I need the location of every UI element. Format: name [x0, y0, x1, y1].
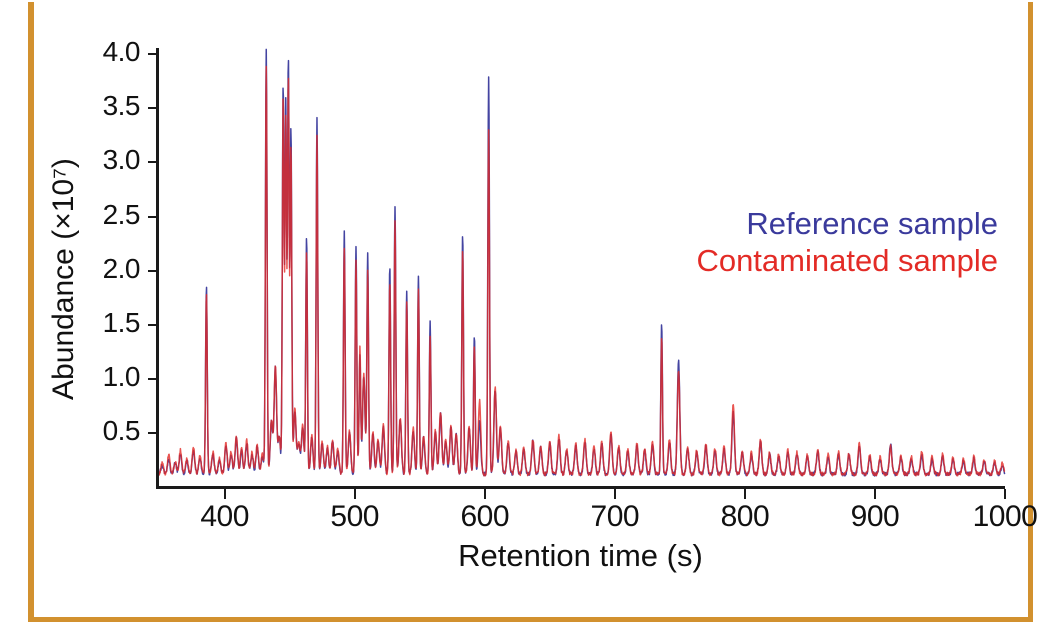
y-axis-line — [156, 48, 159, 489]
chromatogram-plot: 0.51.01.52.02.53.03.54.0 400500600700800… — [0, 0, 1046, 630]
x-tick-label-600: 600 — [430, 500, 540, 534]
y-tick-2.5 — [148, 216, 157, 218]
y-tick-0.5 — [148, 432, 157, 434]
x-tick-600 — [484, 489, 486, 499]
y-axis-title: Abundance (×10⁷) — [47, 79, 81, 479]
y-tick-2.0 — [148, 270, 157, 272]
x-tick-label-700: 700 — [560, 500, 670, 534]
y-tick-label-4.0: 4.0 — [82, 36, 140, 68]
legend: Reference sample Contaminated sample — [696, 206, 998, 279]
x-tick-label-900: 900 — [820, 500, 930, 534]
x-tick-500 — [354, 489, 356, 499]
x-tick-label-500: 500 — [300, 500, 410, 534]
x-tick-900 — [874, 489, 876, 499]
y-tick-label-1.0: 1.0 — [82, 361, 140, 393]
x-tick-label-800: 800 — [690, 500, 800, 534]
y-tick-label-3.5: 3.5 — [82, 90, 140, 122]
x-tick-1000 — [1004, 489, 1006, 499]
x-tick-label-1000: 1000 — [950, 500, 1046, 534]
figure-frame: 0.51.01.52.02.53.03.54.0 400500600700800… — [0, 0, 1046, 630]
y-tick-1.0 — [148, 378, 157, 380]
y-tick-label-2.0: 2.0 — [82, 253, 140, 285]
x-axis-title: Retention time (s) — [156, 538, 1005, 574]
y-tick-3.0 — [148, 161, 157, 163]
y-tick-label-3.0: 3.0 — [82, 144, 140, 176]
legend-item-reference-sample: Reference sample — [696, 206, 998, 243]
y-tick-1.5 — [148, 324, 157, 326]
y-tick-label-1.5: 1.5 — [82, 307, 140, 339]
x-tick-800 — [744, 489, 746, 499]
x-axis-line — [156, 486, 1005, 489]
y-tick-4.0 — [148, 53, 157, 55]
y-tick-3.5 — [148, 107, 157, 109]
x-tick-700 — [614, 489, 616, 499]
y-tick-label-2.5: 2.5 — [82, 199, 140, 231]
x-tick-400 — [224, 489, 226, 499]
x-tick-label-400: 400 — [170, 500, 280, 534]
legend-item-contaminated-sample: Contaminated sample — [696, 243, 998, 280]
y-tick-label-0.5: 0.5 — [82, 415, 140, 447]
